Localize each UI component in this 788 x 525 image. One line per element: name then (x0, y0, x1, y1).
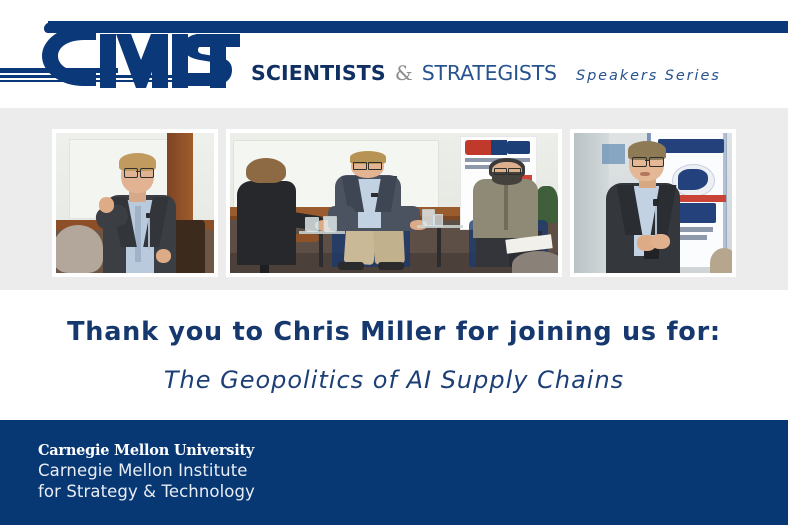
cmist-logo[interactable] (0, 16, 240, 96)
message-block: Thank you to Chris Miller for joining us… (0, 290, 788, 420)
cmu-unit-line-1: Carnegie Mellon Institute (38, 460, 255, 481)
photo-panel-discussion[interactable] (226, 129, 562, 277)
photo-3-scene (574, 133, 732, 273)
tagline-speakers-series: Speakers Series (562, 68, 721, 84)
poster-header: SCIENTISTS & STRATEGISTS Speakers Series (0, 0, 788, 108)
poster-footer: Carnegie Mellon University Carnegie Mell… (0, 420, 788, 525)
cmu-unit-line-2: for Strategy & Technology (38, 481, 255, 502)
photo-speaker-gesturing[interactable] (52, 129, 218, 277)
photo-1-scene (56, 133, 214, 273)
photo-2-scene (230, 133, 558, 273)
talk-title: The Geopolitics of AI Supply Chains (0, 366, 788, 394)
tagline-ampersand: & (391, 61, 417, 85)
cmu-logo-lockup: Carnegie Mellon University Carnegie Mell… (38, 442, 255, 502)
series-tagline: SCIENTISTS & STRATEGISTS Speakers Series (251, 60, 721, 86)
event-thank-you-poster: SCIENTISTS & STRATEGISTS Speakers Series (0, 0, 788, 525)
tagline-strategists: STRATEGISTS (422, 61, 557, 85)
cmu-university-wordmark: Carnegie Mellon University (38, 442, 255, 460)
photo-strip (0, 108, 788, 290)
thank-you-headline: Thank you to Chris Miller for joining us… (0, 317, 788, 347)
photo-speaker-at-banner[interactable] (570, 129, 736, 277)
tagline-scientists: SCIENTISTS (251, 61, 386, 85)
